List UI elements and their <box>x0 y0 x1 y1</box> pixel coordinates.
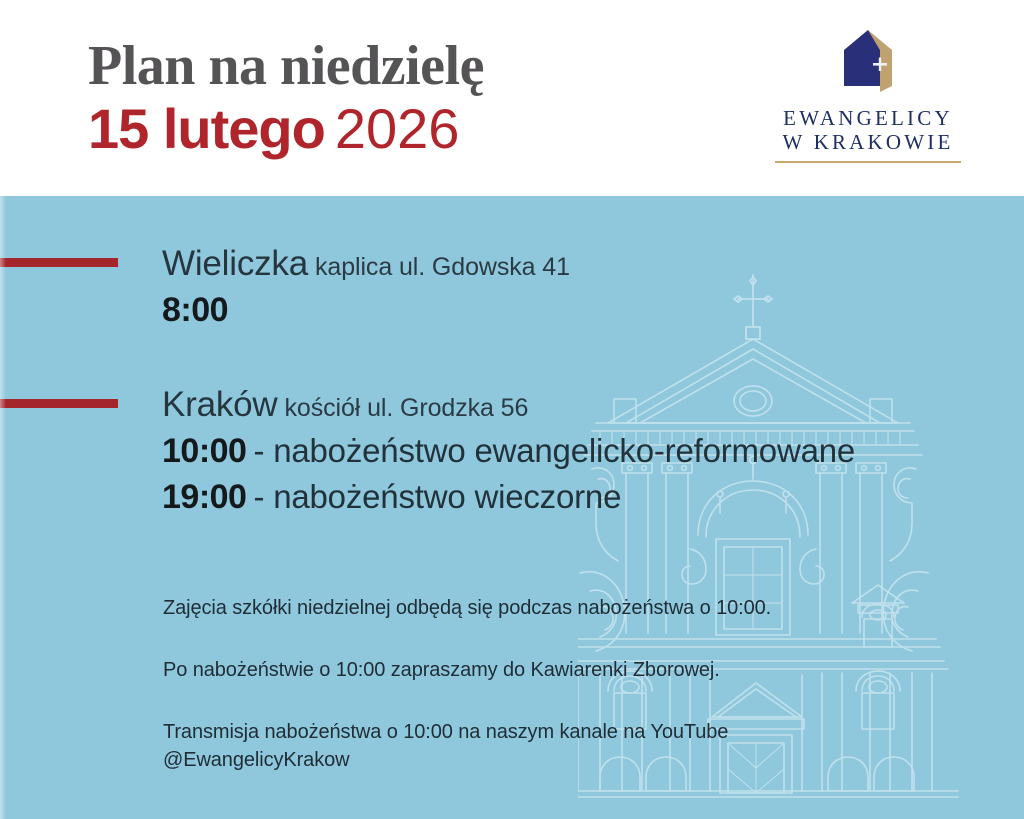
logo-text-line2: W KRAKOWIE <box>768 130 968 154</box>
note-youtube-handle[interactable]: @EwangelicyKrakow <box>163 746 863 774</box>
brand-logo[interactable]: EWANGELICY W KRAKOWIE <box>768 28 968 163</box>
service-location-line: Krakówkościół ul. Grodzka 56 <box>162 385 855 425</box>
service-block-wieliczka: Wieliczkakaplica ul. Gdowska 41 8:00 <box>162 244 570 330</box>
section-marker-wieliczka <box>0 258 118 267</box>
logo-divider <box>775 161 961 163</box>
service-location-line: Wieliczkakaplica ul. Gdowska 41 <box>162 244 570 284</box>
note-text: Zajęcia szkółki niedzielnej odbędą się p… <box>163 597 771 619</box>
service-time-row: 19:00- nabożeństwo wieczorne <box>162 478 855 517</box>
event-date: 15 lutego <box>88 97 325 160</box>
header-title-block: Plan na niedzielę 15 lutego2026 <box>88 36 484 175</box>
page-title: Plan na niedzielę <box>88 36 484 96</box>
section-marker-krakow <box>0 399 118 408</box>
service-time-row: 10:00- nabożeństwo ewangelicko-reformowa… <box>162 432 855 471</box>
service-block-krakow: Krakówkościół ul. Grodzka 56 10:00- nabo… <box>162 385 855 517</box>
service-place-name: Kraków <box>162 385 278 424</box>
sunday-plan-poster: Plan na niedzielę 15 lutego2026 EWANGELI… <box>0 0 1024 819</box>
service-time: 19:00 <box>162 478 246 516</box>
poster-body: Wieliczkakaplica ul. Gdowska 41 8:00 Kra… <box>0 196 1024 819</box>
logo-text-line1: EWANGELICY <box>768 106 968 130</box>
note-stream: Transmisja nabożeństwa o 10:00 na naszym… <box>163 718 863 774</box>
notes-section: Zajęcia szkółki niedzielnej odbędą się p… <box>163 594 863 774</box>
note-cafe: Po nabożeństwie o 10:00 zapraszamy do Ka… <box>163 656 863 684</box>
poster-header: Plan na niedzielę 15 lutego2026 EWANGELI… <box>0 0 1024 196</box>
service-place-address: kaplica ul. Gdowska 41 <box>315 253 570 281</box>
church-house-cross-icon <box>837 28 899 94</box>
service-time-description: - nabożeństwo ewangelicko-reformowane <box>253 432 855 469</box>
service-time-row: 8:00 <box>162 291 570 330</box>
service-time-description: - nabożeństwo wieczorne <box>253 478 621 515</box>
service-time: 10:00 <box>162 432 246 470</box>
note-text: Transmisja nabożeństwa o 10:00 na naszym… <box>163 721 728 743</box>
service-place-name: Wieliczka <box>162 244 308 283</box>
page-subtitle: 15 lutego2026 <box>88 98 484 175</box>
note-text: Po nabożeństwie o 10:00 zapraszamy do Ka… <box>163 659 720 681</box>
event-year: 2026 <box>335 97 460 160</box>
service-time: 8:00 <box>162 291 228 329</box>
service-place-address: kościół ul. Grodzka 56 <box>285 394 529 422</box>
note-sunday-school: Zajęcia szkółki niedzielnej odbędą się p… <box>163 594 863 622</box>
